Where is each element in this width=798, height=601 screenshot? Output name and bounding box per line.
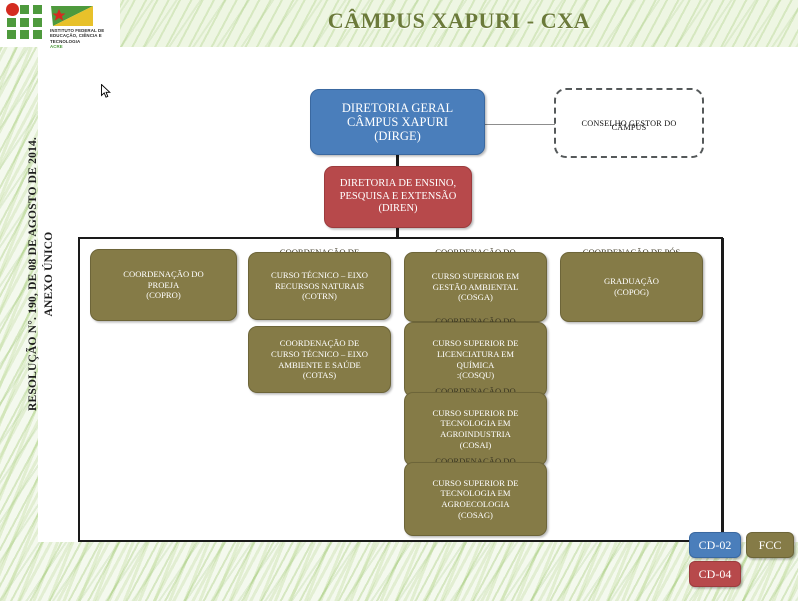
node-cosai-line-3: AGROINDUSTRIA [433, 429, 519, 440]
node-cotas-line-2: CURSO TÉCNICO – EIXO [271, 349, 368, 360]
logo-line-3: ACRE [50, 44, 118, 49]
node-diren-line-1: DIRETORIA DE ENSINO, [340, 178, 457, 191]
if-mark-icon [4, 3, 46, 43]
node-cosga-line-1: CURSO SUPERIOR EM [432, 271, 519, 282]
node-diren-line-2: PESQUISA E EXTENSÃO [340, 191, 457, 204]
node-cotrn-line-3: (COTRN) [271, 291, 368, 302]
legend-badge-cd04[interactable]: CD-04 [689, 561, 741, 587]
node-cosga-line-2: GESTÃO AMBIENTAL [432, 282, 519, 293]
slide-canvas: CÂMPUS XAPURI - CXA INSTITUTO FEDERAL DE… [0, 0, 798, 601]
node-cotas-line-4: (COTAS) [271, 370, 368, 381]
resolution-caption: RESOLUÇÃO N°. 190, DE 08 DE AGOSTO DE 20… [25, 129, 57, 419]
acre-flag-icon [50, 3, 94, 29]
node-diren-line-3: (DIREN) [340, 203, 457, 216]
logo-wordmark: INSTITUTO FEDERAL DE EDUCAÇÃO, CIÊNCIA E… [50, 28, 118, 50]
logo-red-dot-icon [6, 3, 19, 16]
node-cosag[interactable]: CURSO SUPERIOR DE TECNOLOGIA EM AGROECOL… [404, 462, 547, 536]
node-cosqu-line-1: CURSO SUPERIOR DE [433, 338, 519, 349]
node-cosga[interactable]: CURSO SUPERIOR EM GESTÃO AMBIENTAL (COSG… [404, 252, 547, 322]
node-diren[interactable]: DIRETORIA DE ENSINO, PESQUISA E EXTENSÃO… [324, 166, 472, 228]
node-dirge-line-3: (DIRGE) [342, 129, 453, 143]
node-cosqu-line-2: LICENCIATURA EM [433, 349, 519, 360]
node-conselho-line-2: CÂMPUS [560, 123, 698, 132]
logo-line-2: EDUCAÇÃO, CIÊNCIA E TECNOLOGIA [50, 33, 118, 44]
node-cotas-line-3: AMBIENTE E SAÚDE [271, 360, 368, 371]
node-cotrn-line-1: CURSO TÉCNICO – EIXO [271, 270, 368, 281]
connector-dirge-conselho [483, 124, 555, 125]
node-dirge-line-1: DIRETORIA GERAL [342, 101, 453, 115]
node-copog[interactable]: GRADUAÇÃO (COPOG) [560, 252, 703, 322]
node-cosga-line-3: (COSGA) [432, 292, 519, 303]
node-copog-line-2: (COPOG) [604, 287, 659, 298]
mouse-cursor-icon [101, 84, 112, 98]
node-cosai-line-2: TECNOLOGIA EM [433, 418, 519, 429]
node-copro-line-2: PROEJA [123, 280, 203, 291]
node-copog-line-1: GRADUAÇÃO [604, 276, 659, 287]
node-cosqu-line-4: :(COSQU) [433, 370, 519, 381]
node-cotrn[interactable]: CURSO TÉCNICO – EIXO RECURSOS NATURAIS (… [248, 252, 391, 320]
legend-badge-fcc[interactable]: FCC [746, 532, 794, 558]
node-cosai-line-1: CURSO SUPERIOR DE [433, 408, 519, 419]
node-cosqu-line-3: QUÍMICA [433, 360, 519, 371]
node-conselho-gestor[interactable]: CONSELHO GESTOR DO CÂMPUS [554, 88, 704, 158]
legend-badge-cd02[interactable]: CD-02 [689, 532, 741, 558]
node-cosag-line-2: TECNOLOGIA EM [433, 488, 519, 499]
node-copro[interactable]: COORDENAÇÃO DO PROEJA (COPRO) [90, 249, 237, 321]
node-copro-line-3: (COPRO) [123, 290, 203, 301]
node-copro-line-1: COORDENAÇÃO DO [123, 269, 203, 280]
faint-footer-text: · ·· · ·· · ··· ·· ··· · ·· ··· [390, 541, 690, 547]
ifac-logo: INSTITUTO FEDERAL DE EDUCAÇÃO, CIÊNCIA E… [0, 0, 120, 47]
node-dirge-line-2: CÂMPUS XAPURI [342, 115, 453, 129]
connector-right-rail [722, 238, 724, 543]
node-cosag-line-3: AGROECOLOGIA [433, 499, 519, 510]
page-title: CÂMPUS XAPURI - CXA [120, 8, 798, 34]
node-cosai-line-4: (COSAI) [433, 440, 519, 451]
node-cotas[interactable]: COORDENAÇÃO DE CURSO TÉCNICO – EIXO AMBI… [248, 326, 391, 393]
node-dirge[interactable]: DIRETORIA GERAL CÂMPUS XAPURI (DIRGE) [310, 89, 485, 155]
node-cotrn-line-2: RECURSOS NATURAIS [271, 281, 368, 292]
node-cosag-line-4: (COSAG) [433, 510, 519, 521]
node-cotas-line-1: COORDENAÇÃO DE [271, 338, 368, 349]
node-cosai[interactable]: CURSO SUPERIOR DE TECNOLOGIA EM AGROINDU… [404, 392, 547, 466]
resolution-line-2: ANEXO ÚNICO [41, 129, 57, 419]
resolution-line-1: RESOLUÇÃO N°. 190, DE 08 DE AGOSTO DE 20… [25, 129, 41, 419]
node-cosqu[interactable]: CURSO SUPERIOR DE LICENCIATURA EM QUÍMIC… [404, 322, 547, 397]
node-cosag-line-1: CURSO SUPERIOR DE [433, 478, 519, 489]
